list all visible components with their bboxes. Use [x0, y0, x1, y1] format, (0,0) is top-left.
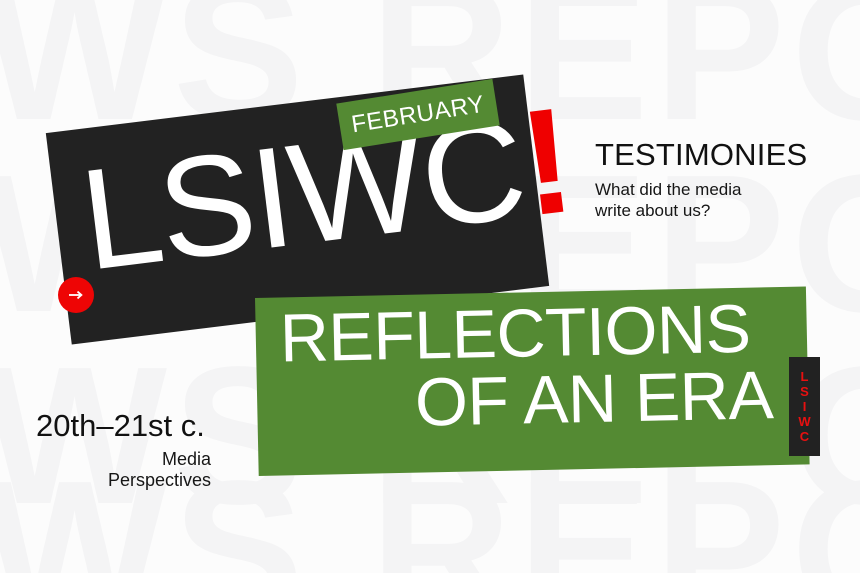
era-sub-line-1: Media: [36, 449, 211, 470]
testimonies-title: TESTIMONIES: [595, 138, 807, 172]
poster-canvas: WS REPO WS REPO WS REPO WS REPO LSIWC! F…: [0, 0, 860, 573]
side-tab-letter: S: [800, 385, 809, 398]
reflections-banner: REFLECTIONS OF AN ERA: [255, 286, 810, 476]
era-caption: 20th–21st c. Media Perspectives: [36, 410, 211, 491]
arrow-bullet[interactable]: [58, 277, 94, 313]
side-tab-letter: L: [801, 370, 809, 383]
testimonies-subtitle-line-1: What did the media: [595, 180, 741, 199]
headline-acronym: LSIWC!: [73, 84, 578, 293]
reflections-banner-text: REFLECTIONS OF AN ERA: [279, 295, 782, 439]
side-tab-lsiwc: L S I W C: [789, 357, 820, 456]
testimonies-subtitle-line-2: write about us?: [595, 201, 710, 220]
arrow-right-icon: [68, 289, 84, 301]
testimonies-block: TESTIMONIES What did the media write abo…: [595, 138, 807, 222]
side-tab-letter: W: [798, 415, 810, 428]
side-tab-letter: I: [803, 400, 807, 413]
testimonies-subtitle: What did the media write about us?: [595, 180, 807, 221]
era-sub-label: Media Perspectives: [36, 449, 211, 491]
side-tab-letter: C: [800, 430, 809, 443]
era-sub-line-2: Perspectives: [36, 470, 211, 491]
era-main-label: 20th–21st c.: [36, 410, 211, 443]
